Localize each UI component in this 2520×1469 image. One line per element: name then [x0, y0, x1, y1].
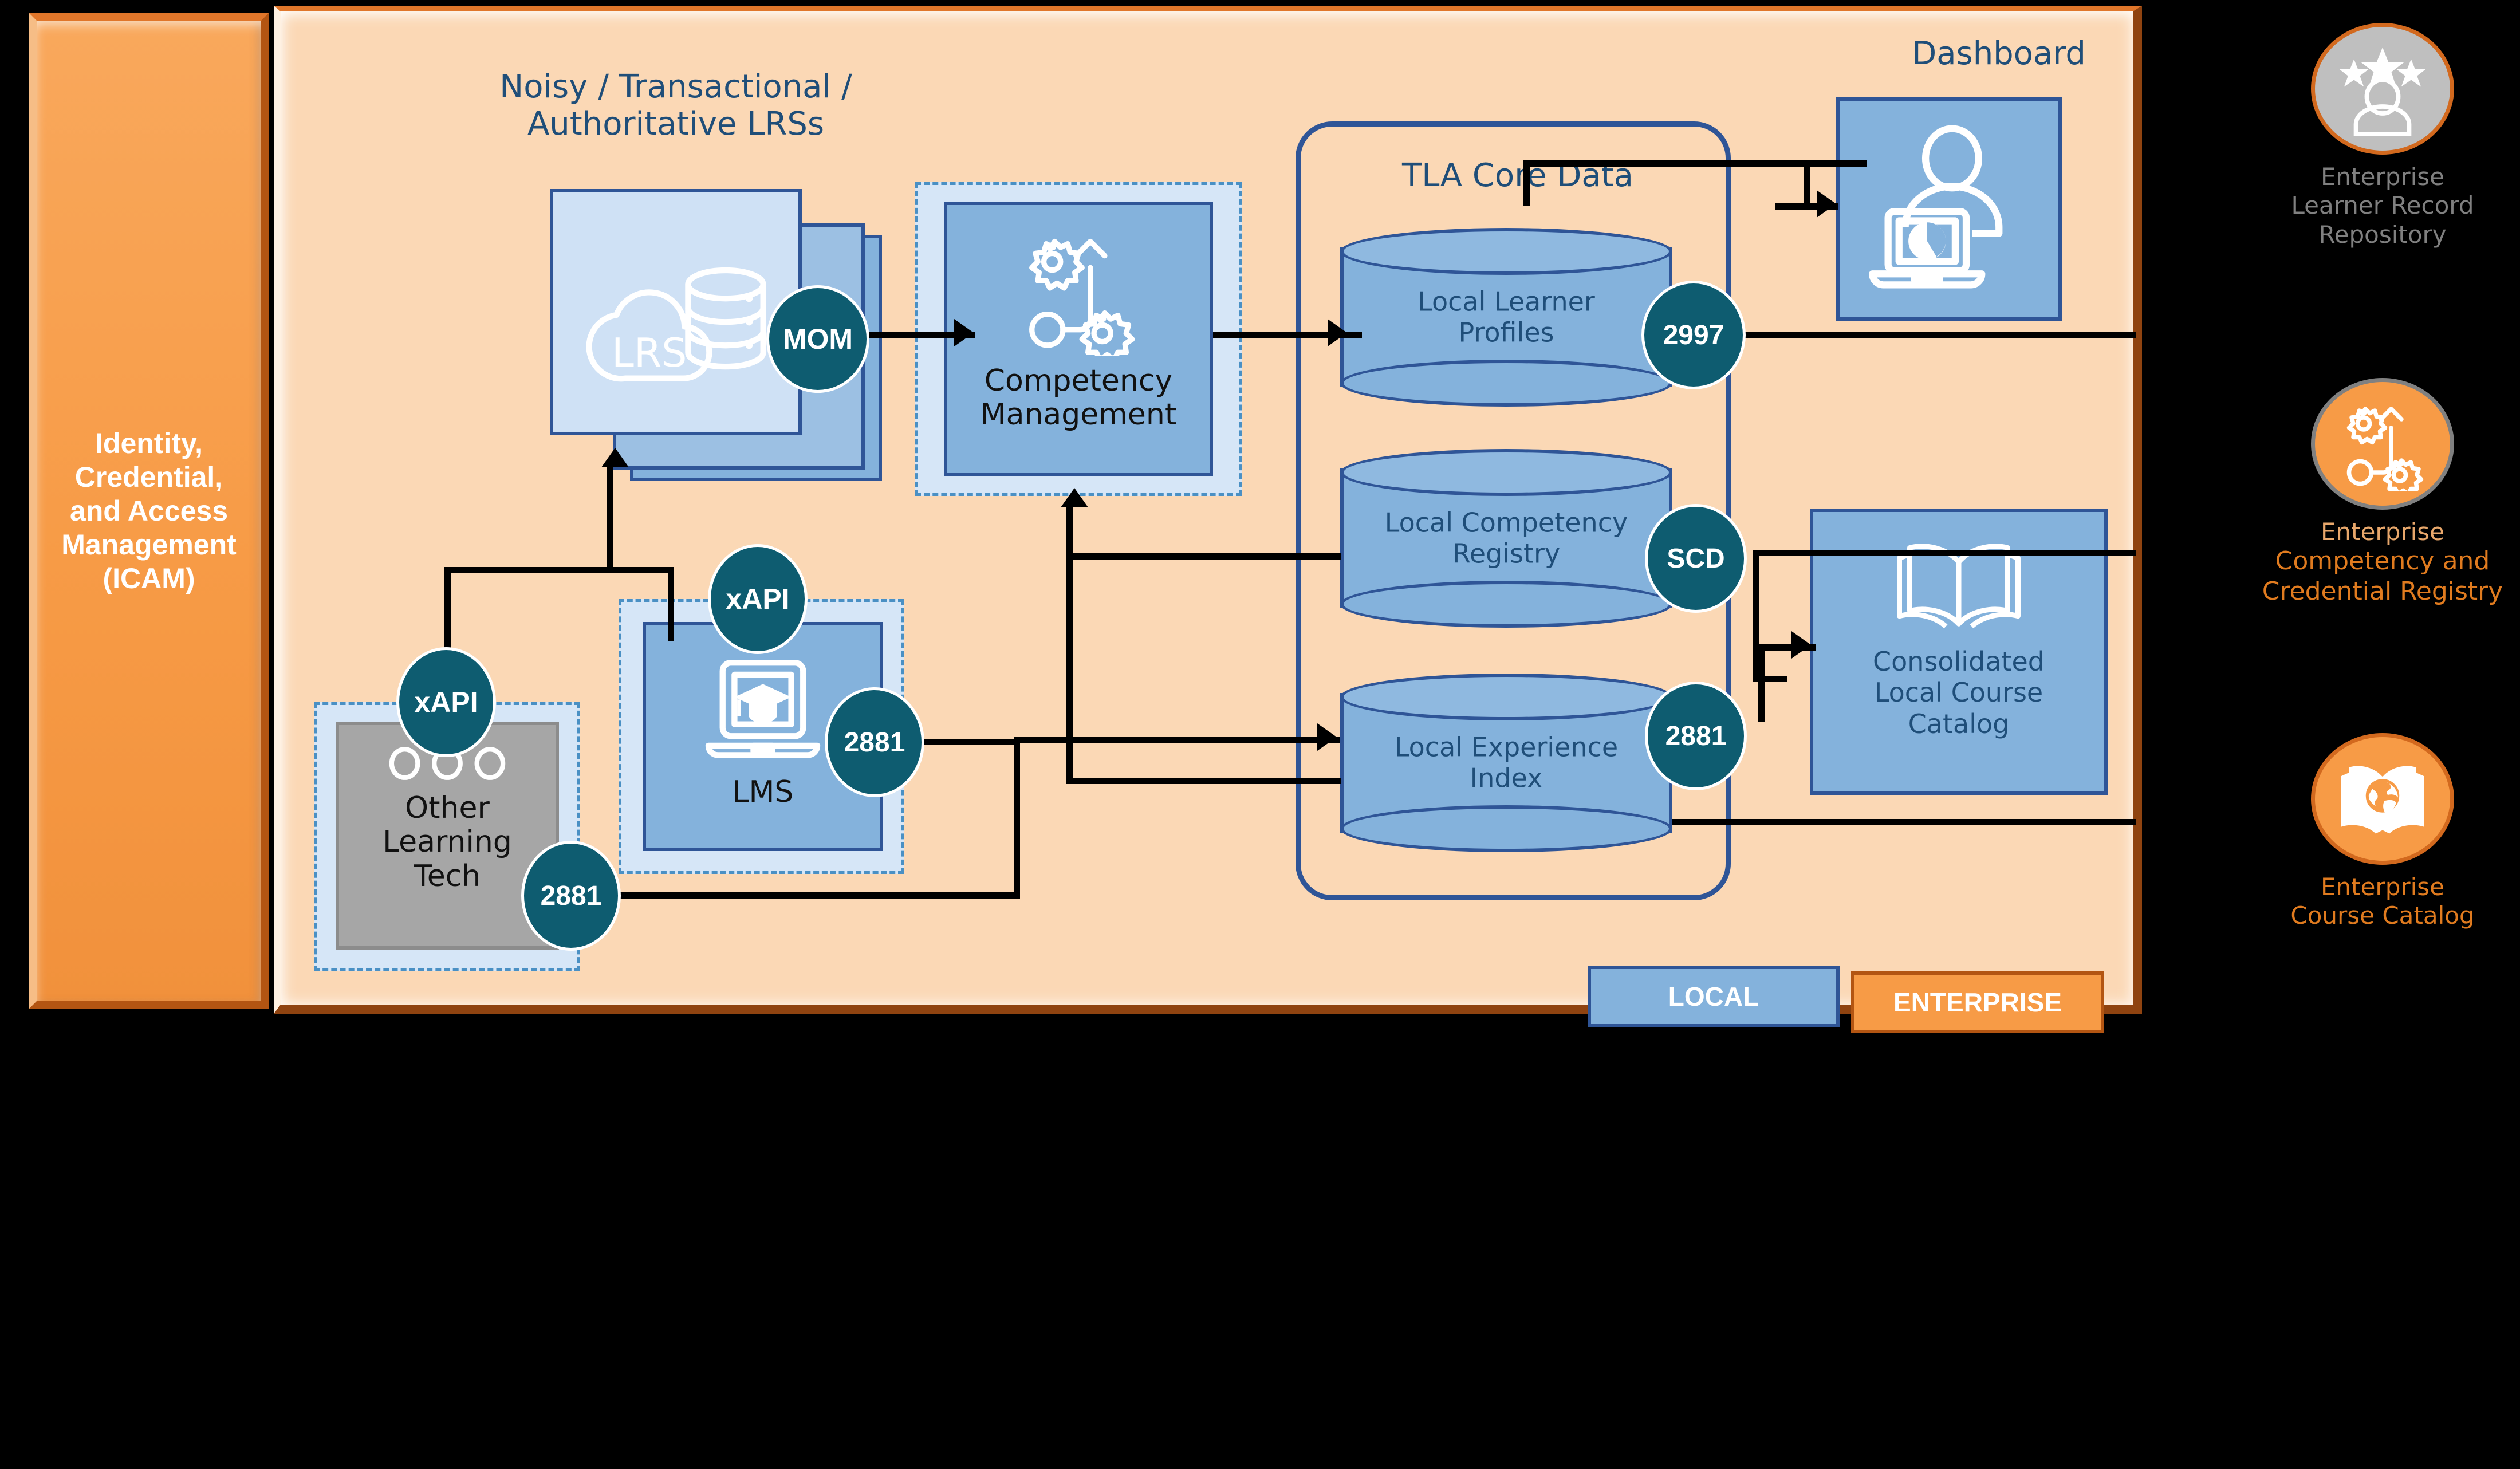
badge-2881-lms[interactable]: 2881 [825, 687, 924, 797]
edge-xapi-join-h [444, 567, 674, 573]
edge-lei-to-enterprise [1672, 819, 2136, 825]
stars-person-icon [2328, 40, 2437, 138]
edge-olt-h [607, 892, 1019, 899]
key-local: LOCAL [1588, 966, 1840, 1027]
datastore-local-experience-index[interactable]: Local ExperienceIndex [1340, 674, 1672, 852]
cylinder-top [1340, 449, 1672, 496]
legend-text: Enterprise Course Catalog [2257, 873, 2509, 931]
person-laptop-chart-icon [1863, 124, 2035, 290]
legend-text: Enterprise Learner Record Repository [2257, 163, 2509, 249]
dashboard-heading: Dashboard [1798, 36, 2199, 73]
datastore-label: Local CompetencyRegistry [1340, 507, 1672, 570]
edge-llp-to-dashboard-h [1523, 160, 1867, 167]
edge-dashboard-down [1804, 160, 1810, 206]
legend-item-enterprise-competency-and-credential-registry[interactable]: Enterprise Competency and Credential Reg… [2257, 378, 2509, 607]
legend-line-2: Course Catalog [2257, 901, 2509, 930]
key-enterprise: ENTERPRISE [1851, 971, 2104, 1033]
datastore-label: Local LearnerProfiles [1340, 286, 1672, 349]
icam-label: Identity,Credential,and AccessManagement… [46, 427, 252, 596]
legend-circle [2311, 733, 2454, 865]
datastore-local-competency-registry[interactable]: Local CompetencyRegistry [1340, 449, 1672, 628]
arrowhead [954, 319, 974, 346]
legend-circle [2311, 23, 2454, 155]
laptop-graduation-cap-icon [692, 655, 834, 770]
edge-xapi-to-lrs-v [607, 464, 613, 573]
cylinder-top [1340, 228, 1672, 275]
badge-2881-local-experience-index[interactable]: 2881 [1645, 682, 1747, 790]
badge-mom[interactable]: MOM [766, 285, 869, 393]
edge-olt-to-lei [1014, 737, 1340, 743]
edge-lei-feedback-h [1066, 778, 1341, 784]
lrs-stack-heading: Noisy / Transactional /Authoritative LRS… [435, 69, 916, 143]
gears-workflow-icon [1007, 225, 1150, 356]
arrowhead [1317, 723, 1337, 751]
book-globe-icon [2331, 758, 2434, 841]
edge-lcr-feedback-h [1066, 553, 1341, 560]
datastore-label: Local ExperienceIndex [1340, 732, 1672, 794]
legend-item-enterprise-course-catalog[interactable]: Enterprise Course Catalog [2257, 733, 2509, 931]
edge-lei-feedback-v [1066, 504, 1073, 779]
cloud-database-icon: LRS [561, 203, 796, 432]
edge-xapi-lms-v [668, 567, 674, 641]
svg-text:LRS: LRS [612, 330, 687, 376]
legend-text: Enterprise Competency and Credential Reg… [2257, 518, 2509, 607]
edge-olt-v [1014, 737, 1020, 899]
cylinder-top [1340, 674, 1672, 720]
arrowhead [1817, 190, 1836, 218]
edge-scd-h-bottom [1753, 676, 1787, 682]
cylinder-bottom [1340, 805, 1672, 852]
legend-line-1: Enterprise [2257, 873, 2509, 901]
cylinder-bottom [1340, 581, 1672, 628]
badge-scd-local-competency-registry[interactable]: SCD [1645, 504, 1747, 613]
legend: Enterprise Learner Record Repository [2257, 0, 2509, 1031]
competency-management-node[interactable]: CompetencyManagement [944, 202, 1213, 476]
icam-panel: Identity,Credential,and AccessManagement… [29, 13, 269, 1009]
lms-label: LMS [733, 775, 794, 809]
arrowhead [601, 448, 629, 467]
arrowhead [1061, 488, 1088, 507]
other-learning-tech-label: OtherLearningTech [383, 791, 512, 893]
legend-circle [2311, 378, 2454, 510]
edge-lei-v [1758, 644, 1765, 722]
edge-lms-2881-h [922, 739, 1019, 745]
competency-management-label: CompetencyManagement [981, 364, 1177, 432]
legend-item-enterprise-learner-record-repository[interactable]: Enterprise Learner Record Repository [2257, 23, 2509, 249]
edge-2997-to-enterprise [1735, 332, 2136, 338]
cylinder-bottom [1340, 360, 1672, 407]
legend-line-2: Competency and [2257, 546, 2509, 577]
diagram-canvas: Identity,Credential,and AccessManagement… [0, 0, 2520, 1469]
legend-line-3: Repository [2257, 220, 2509, 249]
lrs-card-front: LRS [550, 189, 802, 435]
badge-2997-local-learner-profiles[interactable]: 2997 [1641, 281, 1746, 389]
dashboard-node[interactable] [1836, 97, 2062, 321]
arrowhead [1791, 631, 1811, 659]
edge-scd-h-top [1753, 550, 2136, 556]
edge-llp-up [1523, 160, 1530, 206]
legend-line-3: Credential Registry [2257, 577, 2509, 607]
legend-line-2: Learner Record [2257, 191, 2509, 220]
consolidated-local-course-catalog-label: ConsolidatedLocal CourseCatalog [1873, 646, 2045, 739]
gears-workflow-icon [2331, 397, 2434, 491]
badge-2881-other-learning-tech[interactable]: 2881 [521, 841, 621, 951]
badge-xapi-other-learning-tech[interactable]: xAPI [396, 647, 496, 757]
legend-line-1: Enterprise [2257, 163, 2509, 191]
datastore-local-learner-profiles[interactable]: Local LearnerProfiles [1340, 228, 1672, 407]
badge-xapi-lms[interactable]: xAPI [708, 544, 808, 654]
legend-line-1: Enterprise [2257, 518, 2509, 546]
